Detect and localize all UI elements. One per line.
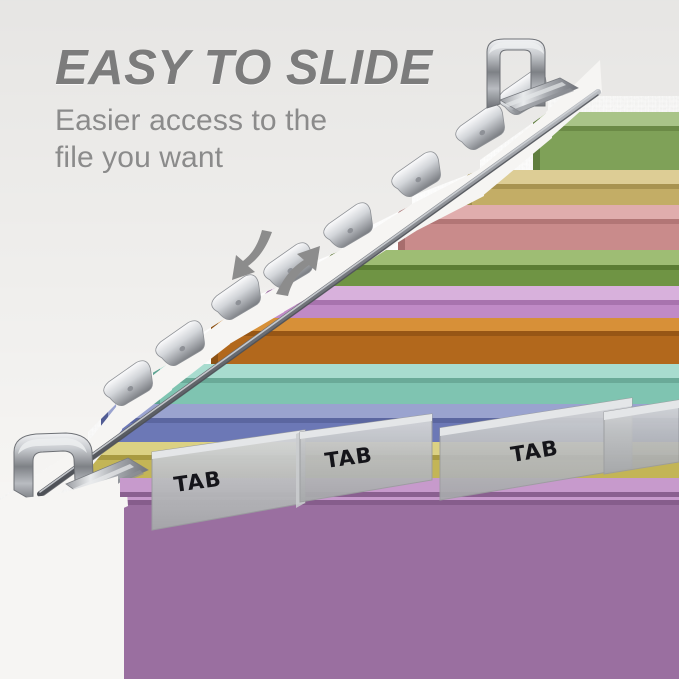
slide-right-arrow <box>276 246 320 296</box>
headline: EASY TO SLIDE <box>55 44 475 94</box>
subheadline-line-2: file you want <box>55 141 223 174</box>
subheadline: Easier access to the file you want <box>55 103 375 176</box>
marketing-copy: EASY TO SLIDE Easier access to the file … <box>55 44 475 176</box>
slide-direction-arrows <box>228 226 322 300</box>
subheadline-line-1: Easier access to the <box>55 104 327 137</box>
tab-holder-4[interactable] <box>604 400 679 474</box>
slide-left-arrow <box>232 230 272 280</box>
product-feature-image: TAB TAB TAB <box>0 0 679 679</box>
